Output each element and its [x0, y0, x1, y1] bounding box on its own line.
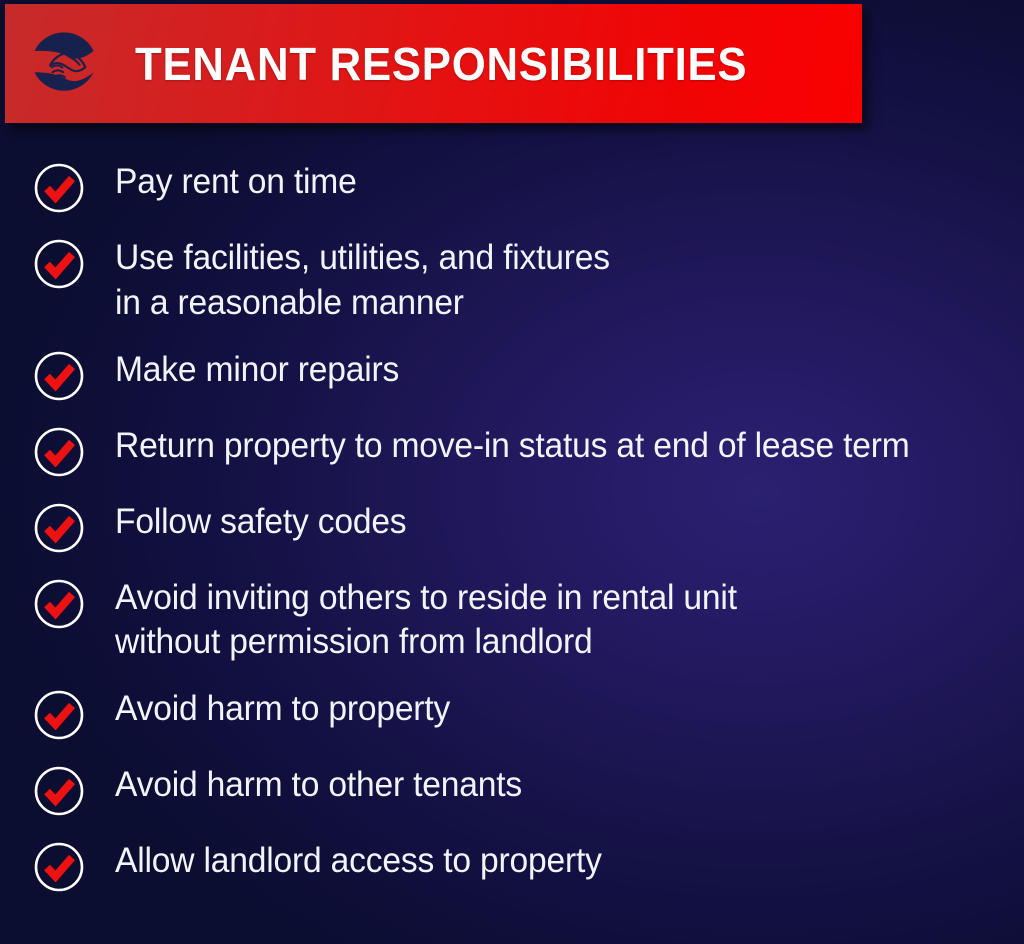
list-item-label: Use facilities, utilities, and fixtures … — [115, 236, 610, 326]
check-circle-icon — [33, 238, 85, 290]
list-item-label: Avoid inviting others to reside in renta… — [115, 576, 737, 666]
list-item-label: Avoid harm to property — [115, 687, 450, 732]
check-circle-icon — [33, 426, 85, 478]
check-circle-icon — [33, 162, 85, 214]
responsibilities-list: Pay rent on time Use facilities, utiliti… — [0, 160, 1024, 915]
list-item-label: Follow safety codes — [115, 500, 406, 545]
check-circle-icon — [33, 578, 85, 630]
list-item: Avoid harm to other tenants — [0, 763, 1024, 817]
check-circle-icon — [33, 350, 85, 402]
list-item-label: Allow landlord access to property — [115, 839, 602, 884]
list-item: Avoid inviting others to reside in renta… — [0, 576, 1024, 666]
check-circle-icon — [33, 689, 85, 741]
list-item-label: Return property to move-in status at end… — [115, 424, 910, 469]
list-item: Make minor repairs — [0, 348, 1024, 402]
check-circle-icon — [33, 841, 85, 893]
check-circle-icon — [33, 765, 85, 817]
list-item: Return property to move-in status at end… — [0, 424, 1024, 478]
tenant-responsibilities-infographic: TENANT RESPONSIBILITIES Pay rent on time… — [0, 0, 1024, 944]
list-item: Allow landlord access to property — [0, 839, 1024, 893]
list-item: Use facilities, utilities, and fixtures … — [0, 236, 1024, 326]
header-banner: TENANT RESPONSIBILITIES — [5, 4, 862, 123]
check-circle-icon — [33, 502, 85, 554]
page-title: TENANT RESPONSIBILITIES — [135, 41, 747, 87]
list-item-label: Pay rent on time — [115, 160, 357, 205]
list-item-label: Make minor repairs — [115, 348, 399, 393]
list-item: Pay rent on time — [0, 160, 1024, 214]
handshake-circle-icon — [23, 23, 105, 105]
list-item: Avoid harm to property — [0, 687, 1024, 741]
list-item: Follow safety codes — [0, 500, 1024, 554]
list-item-label: Avoid harm to other tenants — [115, 763, 522, 808]
